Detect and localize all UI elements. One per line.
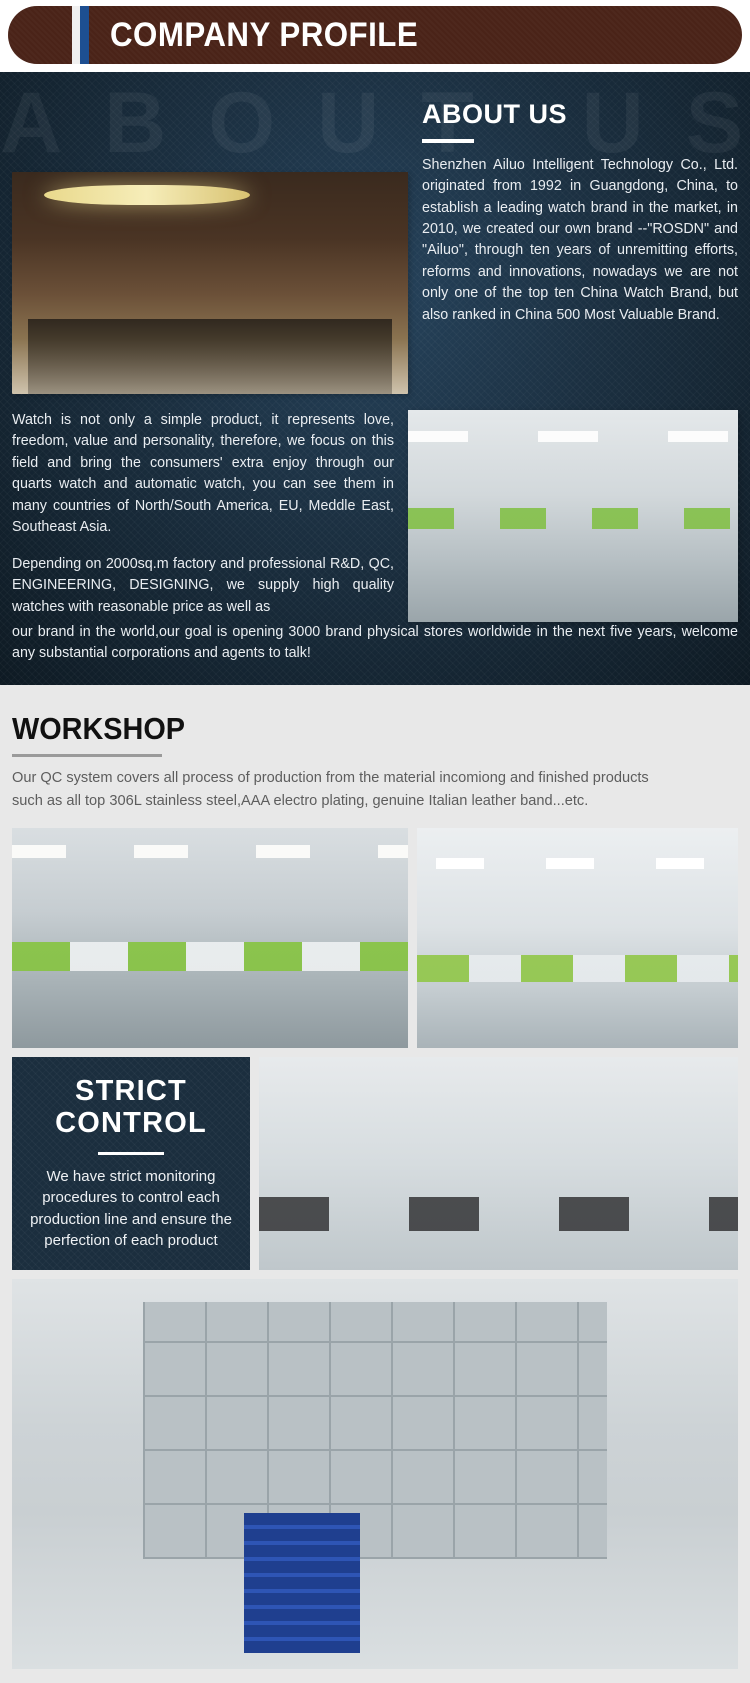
about-heading: ABOUT US [422,100,738,130]
about-bottom-text: our brand in the world,our goal is openi… [0,622,750,665]
header-stripe-white [72,6,80,64]
workshop-heading-rule [12,754,162,757]
about-top-row: ABOUT US Shenzhen Ailuo Intelligent Tech… [0,72,750,394]
factory-image-art-b [417,828,738,1048]
workshop-photo-row-1 [12,828,738,1048]
about-section: ABOUT US ABOUT US Shenzhen Ailuo Intelli… [0,72,750,685]
about-office-photo [408,410,738,622]
about-paragraph-3a: Depending on 2000sq.m factory and profes… [12,554,394,618]
workshop-photo-row-2: STRICT CONTROL We have strict monitoring… [12,1057,738,1270]
about-paragraph-3b: our brand in the world,our goal is openi… [12,622,738,665]
workshop-photo-d [12,1279,738,1669]
factory-image-art-a [12,828,408,1048]
strict-control-body: We have strict monitoring procedures to … [24,1166,238,1251]
workshop-photo-a [12,828,408,1048]
workshop-photo-b [417,828,738,1048]
about-paragraph-2: Watch is not only a simple product, it r… [12,410,394,539]
inspection-image-art [259,1057,738,1270]
strict-control-title-line-2: CONTROL [55,1107,207,1139]
strict-control-title: STRICT CONTROL [55,1075,207,1140]
page-title: COMPANY PROFILE [110,16,418,55]
about-heading-rule [422,139,474,143]
storage-image-art [12,1279,738,1669]
workshop-photo-c [259,1057,738,1270]
about-lobby-photo [12,172,408,394]
workshop-description-line-1: Our QC system covers all process of prod… [12,767,738,790]
header-stripe-blue [80,6,89,64]
workshop-photo-row-3 [12,1279,738,1669]
page-header: COMPANY PROFILE [0,0,750,72]
about-paragraph-1: Shenzhen Ailuo Intelligent Technology Co… [422,155,738,327]
strict-control-title-line-1: STRICT [55,1075,207,1107]
lobby-image-art [12,172,408,394]
strict-control-panel: STRICT CONTROL We have strict monitoring… [12,1057,250,1270]
strict-control-rule [98,1152,164,1155]
office-image-art [408,410,738,622]
workshop-description-line-2: such as all top 306L stainless steel,AAA… [12,790,738,813]
about-middle-row: Watch is not only a simple product, it r… [0,394,750,622]
header-banner: COMPANY PROFILE [8,6,742,64]
workshop-heading: WORKSHOP [12,711,687,747]
workshop-section: WORKSHOP Our QC system covers all proces… [0,685,750,1683]
about-text-column: ABOUT US Shenzhen Ailuo Intelligent Tech… [422,94,738,394]
company-profile-page: COMPANY PROFILE ABOUT US ABOUT US Shenzh… [0,0,750,1683]
about-middle-text: Watch is not only a simple product, it r… [12,410,394,622]
